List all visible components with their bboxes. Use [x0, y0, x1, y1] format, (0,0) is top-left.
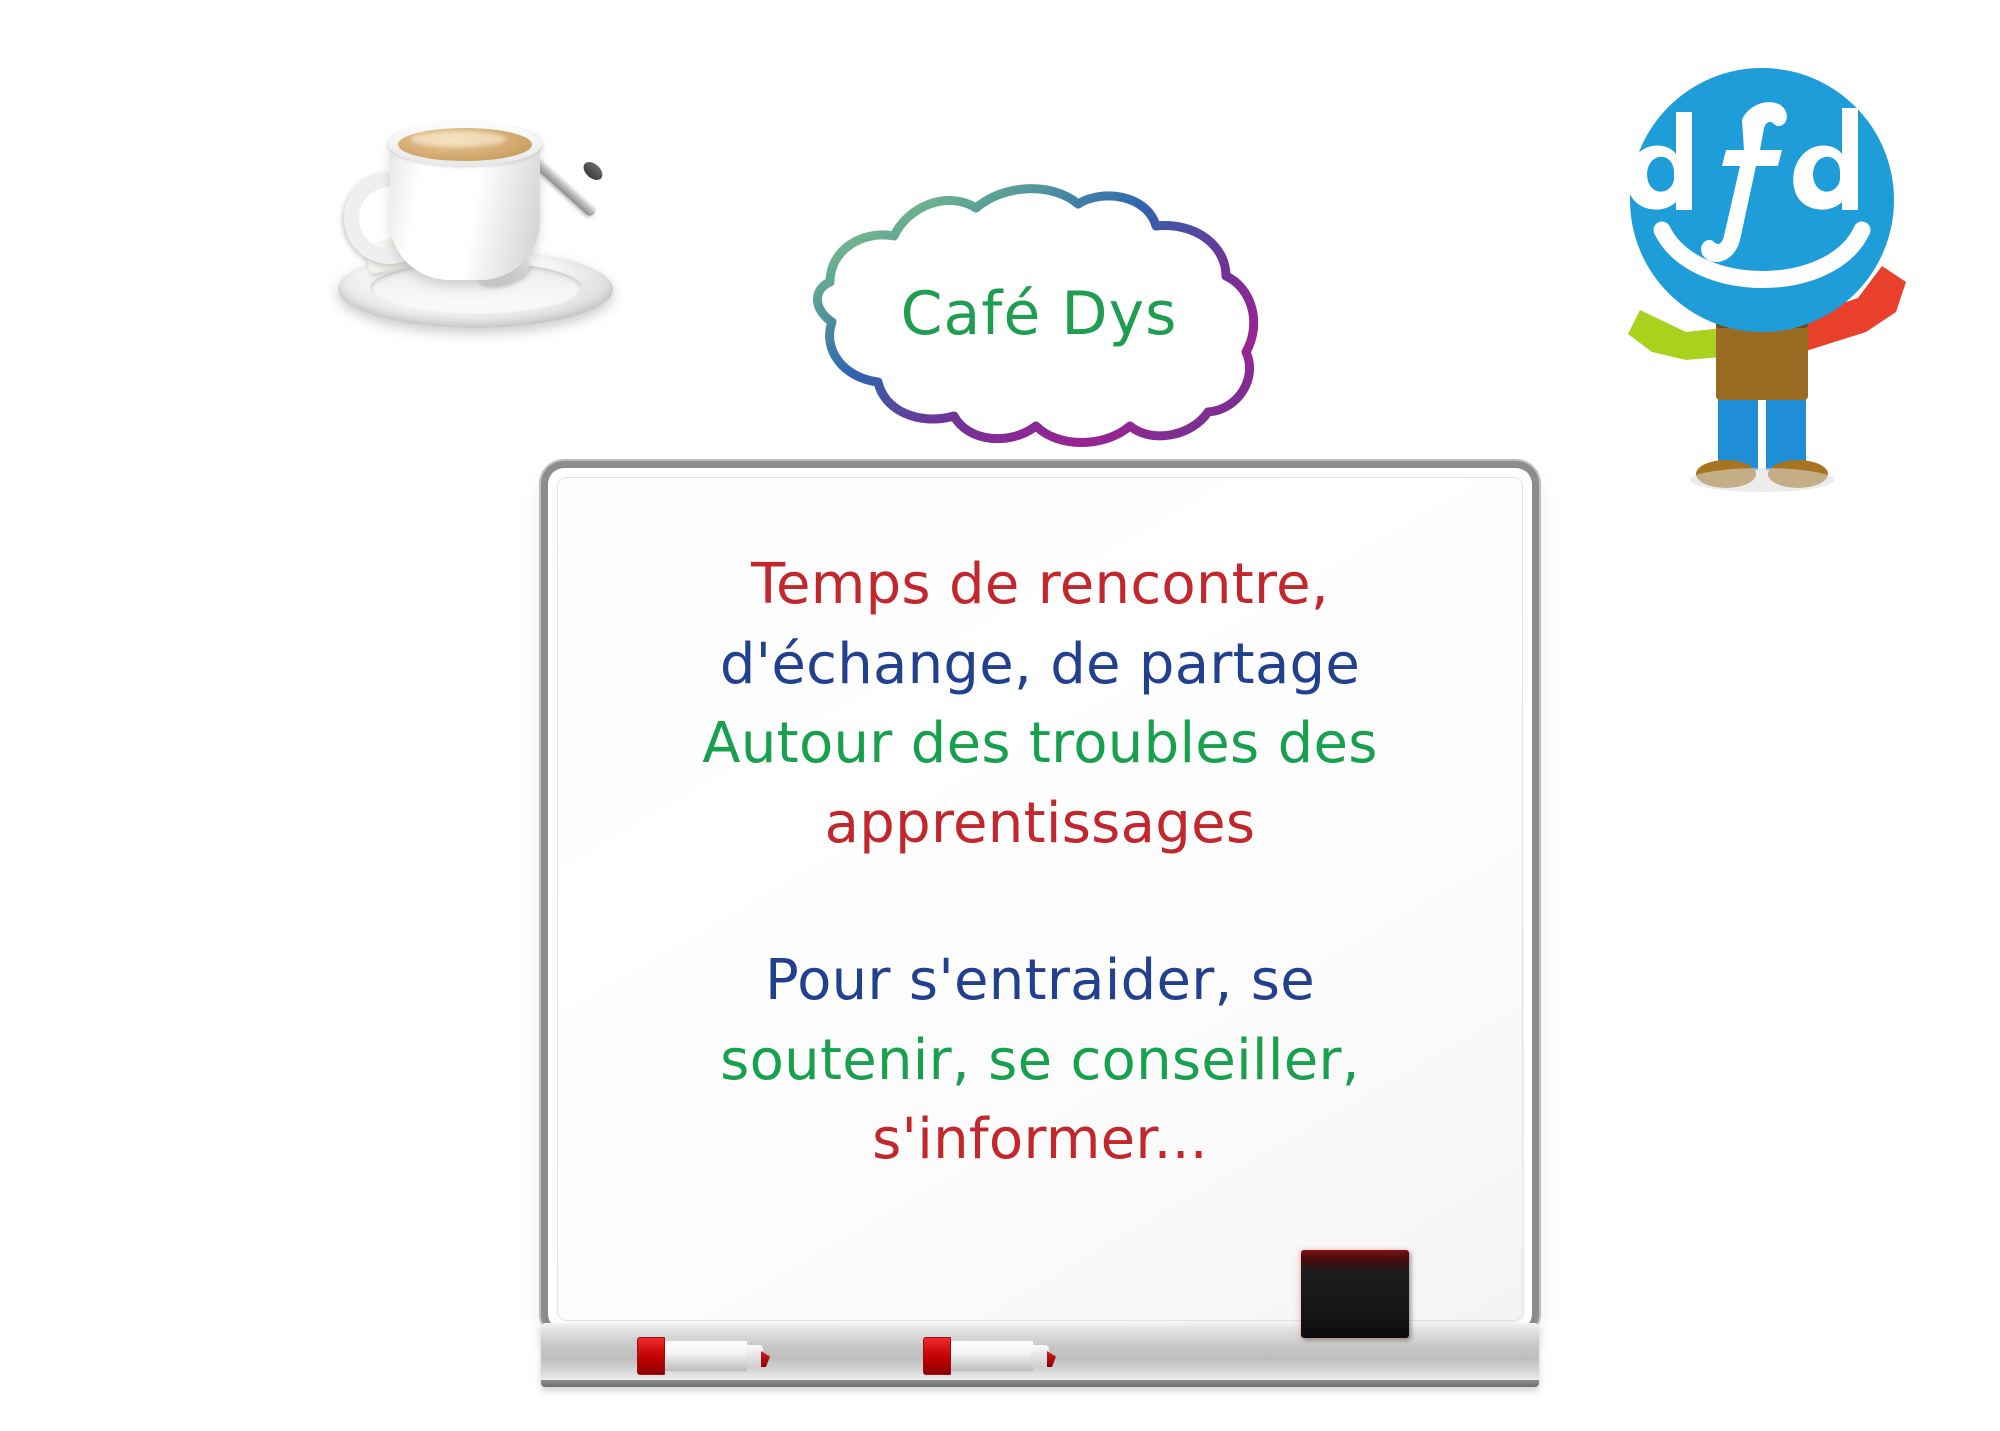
ground-shadow [1690, 468, 1834, 492]
board-line-4: apprentissages [555, 784, 1525, 864]
marker-nose [745, 1345, 763, 1367]
board-line-7: s'informer... [555, 1100, 1525, 1180]
whiteboard-marker-2[interactable] [923, 1337, 1061, 1375]
board-line-3: Autour des troubles des [555, 704, 1525, 784]
right-leg [1766, 390, 1806, 470]
marker-tip [1047, 1351, 1056, 1367]
marker-tip [761, 1351, 770, 1367]
marker-barrel [664, 1340, 748, 1372]
left-leg [1718, 390, 1758, 470]
whiteboard-text-block: Temps de rencontre, d'échange, de partag… [555, 545, 1525, 1180]
paragraph-1: Temps de rencontre, d'échange, de partag… [555, 545, 1525, 863]
marker-cap [637, 1337, 665, 1375]
board-line-5: Pour s'entraider, se [555, 941, 1525, 1021]
board-line-6: soutenir, se conseiller, [555, 1021, 1525, 1101]
dfd-logo-icon [1590, 60, 1970, 510]
cloud-title-label: Café Dys [752, 164, 1312, 464]
whiteboard-eraser[interactable] [1301, 1250, 1409, 1338]
cloud-title-bubble: Café Dys [752, 164, 1312, 464]
whiteboard-tray [541, 1323, 1539, 1387]
spoon-tip [580, 158, 606, 183]
coffee-crema [410, 131, 506, 147]
whiteboard-marker-1[interactable] [637, 1337, 775, 1375]
tray-edge [541, 1380, 1539, 1387]
board-line-1: Temps de rencontre, [555, 545, 1525, 625]
marker-barrel [950, 1340, 1034, 1372]
paragraph-2: Pour s'entraider, se soutenir, se consei… [555, 941, 1525, 1180]
marker-cap [923, 1337, 951, 1375]
whiteboard: Temps de rencontre, d'échange, de partag… [548, 468, 1532, 1330]
paragraph-spacer [555, 863, 1525, 941]
board-line-2: d'échange, de partage [555, 625, 1525, 705]
marker-nose [1031, 1345, 1049, 1367]
coffee-cup-illustration [330, 110, 630, 340]
dfd-logo [1590, 60, 1970, 510]
